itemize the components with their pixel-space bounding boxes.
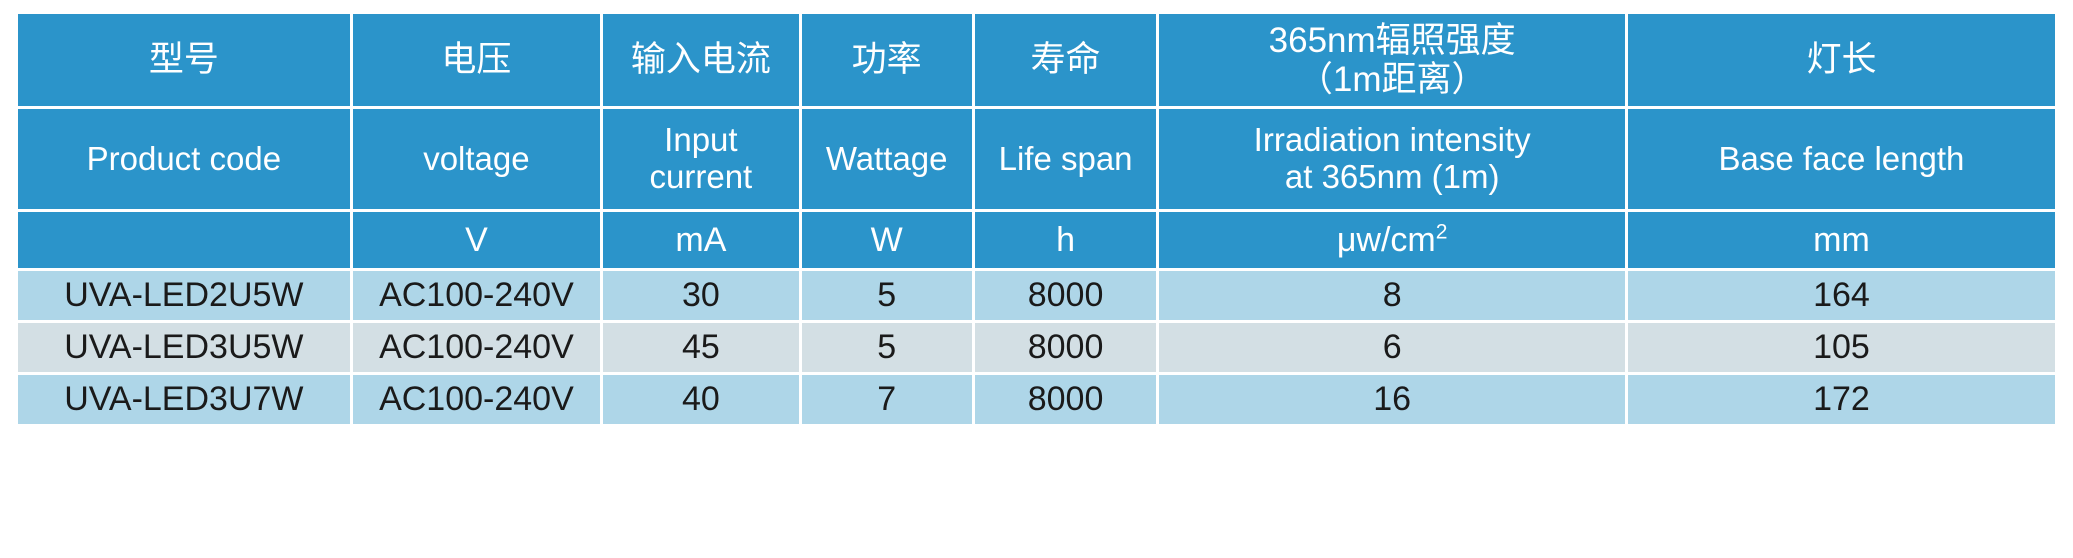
unit-product-code (18, 212, 353, 271)
cell-life-span: 8000 (975, 271, 1160, 323)
header-en-irradiation-line2: at 365nm (1m) (1163, 159, 1621, 196)
cell-life-span: 8000 (975, 375, 1160, 424)
cell-voltage: AC100-240V (353, 271, 603, 323)
header-en-irradiation: Irradiation intensity at 365nm (1m) (1159, 109, 1628, 212)
cell-voltage: AC100-240V (353, 323, 603, 375)
header-en-input-current: Input current (603, 109, 802, 212)
unit-wattage: W (802, 212, 975, 271)
header-en-irradiation-line1: Irradiation intensity (1163, 122, 1621, 159)
table-row: UVA-LED3U7W AC100-240V 40 7 8000 16 172 (18, 375, 2055, 424)
cell-input-current: 45 (603, 323, 802, 375)
header-row-chinese: 型号 电压 输入电流 功率 寿命 365nm辐照强度 （1m距离） 灯长 (18, 14, 2055, 109)
unit-input-current: mA (603, 212, 802, 271)
header-cn-life-span: 寿命 (975, 14, 1160, 109)
cell-wattage: 5 (802, 271, 975, 323)
unit-base-face-length: mm (1628, 212, 2055, 271)
cell-life-span: 8000 (975, 323, 1160, 375)
cell-wattage: 5 (802, 323, 975, 375)
table-row: UVA-LED3U5W AC100-240V 45 5 8000 6 105 (18, 323, 2055, 375)
header-cn-product-code: 型号 (18, 14, 353, 109)
cell-input-current: 40 (603, 375, 802, 424)
header-cn-voltage: 电压 (353, 14, 603, 109)
unit-irradiation-exponent: 2 (1436, 221, 1448, 244)
header-cn-irradiation-line2: （1m距离） (1163, 60, 1621, 99)
cell-irradiation: 6 (1159, 323, 1628, 375)
product-spec-table: 型号 电压 输入电流 功率 寿命 365nm辐照强度 （1m距离） 灯长 Pro… (18, 14, 2055, 424)
cell-wattage: 7 (802, 375, 975, 424)
header-cn-wattage: 功率 (802, 14, 975, 109)
header-cn-irradiation-line1: 365nm辐照强度 (1163, 21, 1621, 60)
cell-base-face-length: 172 (1628, 375, 2055, 424)
header-en-base-face-length: Base face length (1628, 109, 2055, 212)
cell-product-code: UVA-LED2U5W (18, 271, 353, 323)
header-cn-input-current: 输入电流 (603, 14, 802, 109)
cell-input-current: 30 (603, 271, 802, 323)
header-en-product-code: Product code (18, 109, 353, 212)
unit-irradiation-base: μw/cm (1337, 221, 1436, 259)
unit-irradiation: μw/cm2 (1159, 212, 1628, 271)
cell-base-face-length: 105 (1628, 323, 2055, 375)
header-en-input-current-line1: Input (607, 122, 795, 159)
unit-life-span: h (975, 212, 1160, 271)
cell-voltage: AC100-240V (353, 375, 603, 424)
table-row: UVA-LED2U5W AC100-240V 30 5 8000 8 164 (18, 271, 2055, 323)
cell-product-code: UVA-LED3U7W (18, 375, 353, 424)
header-row-english: Product code voltage Input current Watta… (18, 109, 2055, 212)
header-en-input-current-line2: current (607, 159, 795, 196)
unit-voltage: V (353, 212, 603, 271)
header-row-units: V mA W h μw/cm2 mm (18, 212, 2055, 271)
cell-irradiation: 8 (1159, 271, 1628, 323)
cell-base-face-length: 164 (1628, 271, 2055, 323)
header-en-voltage: voltage (353, 109, 603, 212)
cell-irradiation: 16 (1159, 375, 1628, 424)
header-cn-irradiation: 365nm辐照强度 （1m距离） (1159, 14, 1628, 109)
header-en-life-span: Life span (975, 109, 1160, 212)
header-en-wattage: Wattage (802, 109, 975, 212)
product-spec-table-container: 型号 电压 输入电流 功率 寿命 365nm辐照强度 （1m距离） 灯长 Pro… (18, 14, 2055, 424)
cell-product-code: UVA-LED3U5W (18, 323, 353, 375)
header-cn-base-face-length: 灯长 (1628, 14, 2055, 109)
